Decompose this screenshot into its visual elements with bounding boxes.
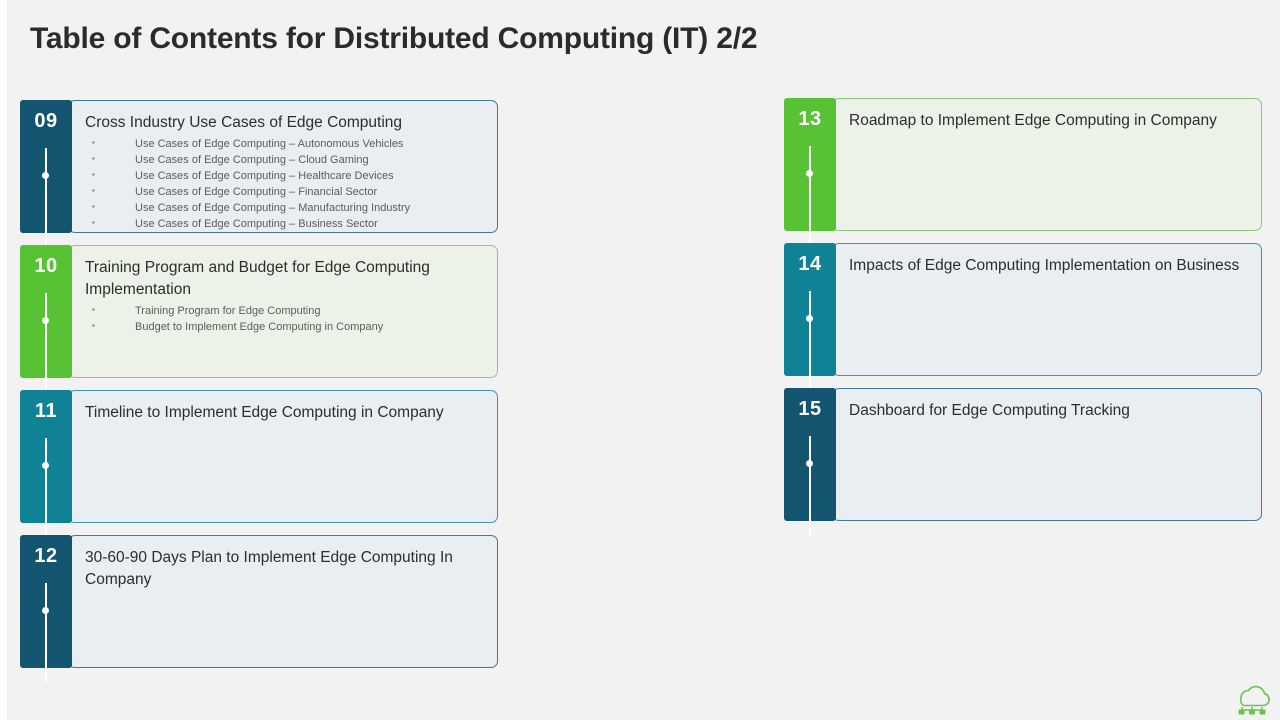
timeline-node-dot (42, 462, 49, 469)
toc-card-body: Cross Industry Use Cases of Edge Computi… (68, 100, 498, 233)
toc-card-number: 10 (20, 255, 72, 278)
toc-card-bullet-list: Training Program for Edge ComputingBudge… (85, 304, 483, 336)
toc-card-title: Dashboard for Edge Computing Tracking (849, 400, 1247, 422)
timeline-connector-line (45, 438, 47, 537)
toc-card-number-tab: 11 (20, 390, 72, 523)
timeline-node-dot (42, 172, 49, 179)
toc-card-body: Training Program and Budget for Edge Com… (68, 245, 498, 378)
timeline-connector-line (809, 291, 811, 390)
timeline-node-dot (806, 315, 813, 322)
cloud-computing-logo (1228, 678, 1268, 712)
toc-card-number: 09 (20, 110, 72, 133)
toc-card-bullet-item: Use Cases of Edge Computing – Business S… (85, 217, 483, 233)
toc-card-number: 15 (784, 398, 836, 421)
timeline-connector-line (45, 583, 47, 682)
toc-card-bullet-item: Use Cases of Edge Computing – Cloud Gami… (85, 153, 483, 169)
timeline-node-dot (806, 460, 813, 467)
toc-card[interactable]: 11Timeline to Implement Edge Computing i… (20, 390, 498, 523)
toc-card-title: 30-60-90 Days Plan to Implement Edge Com… (85, 547, 483, 591)
timeline-node-dot (806, 170, 813, 177)
toc-card-body: Dashboard for Edge Computing Tracking (832, 388, 1262, 521)
toc-card-bullet-list: Use Cases of Edge Computing – Autonomous… (85, 137, 483, 233)
toc-card-body: 30-60-90 Days Plan to Implement Edge Com… (68, 535, 498, 668)
page-title: Table of Contents for Distributed Comput… (30, 22, 757, 56)
timeline-connector-line (809, 146, 811, 245)
toc-card-bullet-item: Budget to Implement Edge Computing in Co… (85, 320, 483, 336)
toc-card-number-tab: 09 (20, 100, 72, 233)
toc-card-number: 14 (784, 253, 836, 276)
toc-card[interactable]: 1230-60-90 Days Plan to Implement Edge C… (20, 535, 498, 668)
toc-card-title: Timeline to Implement Edge Computing in … (85, 402, 483, 424)
timeline-connector-line (809, 436, 811, 535)
toc-card-body: Impacts of Edge Computing Implementation… (832, 243, 1262, 376)
toc-card-bullet-item: Training Program for Edge Computing (85, 304, 483, 320)
toc-card-number: 12 (20, 545, 72, 568)
timeline-node-dot (42, 317, 49, 324)
timeline-node-dot (42, 607, 49, 614)
toc-card[interactable]: 13Roadmap to Implement Edge Computing in… (784, 98, 1262, 231)
toc-card-number-tab: 12 (20, 535, 72, 668)
toc-card-number-tab: 10 (20, 245, 72, 378)
toc-card-bullet-item: Use Cases of Edge Computing – Financial … (85, 185, 483, 201)
timeline-connector-line (45, 293, 47, 392)
timeline-connector-line (45, 148, 47, 247)
toc-column-right: 13Roadmap to Implement Edge Computing in… (784, 98, 1264, 533)
toc-column-left: 09Cross Industry Use Cases of Edge Compu… (20, 100, 500, 680)
toc-card[interactable]: 15Dashboard for Edge Computing Tracking (784, 388, 1262, 521)
toc-card-number-tab: 15 (784, 388, 836, 521)
toc-card-body: Roadmap to Implement Edge Computing in C… (832, 98, 1262, 231)
toc-card-title: Cross Industry Use Cases of Edge Computi… (85, 112, 483, 134)
toc-card[interactable]: 14Impacts of Edge Computing Implementati… (784, 243, 1262, 376)
left-edge-accent (0, 0, 7, 720)
toc-card-number-tab: 14 (784, 243, 836, 376)
toc-card-number-tab: 13 (784, 98, 836, 231)
toc-card[interactable]: 09Cross Industry Use Cases of Edge Compu… (20, 100, 498, 233)
toc-card-body: Timeline to Implement Edge Computing in … (68, 390, 498, 523)
toc-card[interactable]: 10Training Program and Budget for Edge C… (20, 245, 498, 378)
toc-card-bullet-item: Use Cases of Edge Computing – Autonomous… (85, 137, 483, 153)
toc-card-title: Roadmap to Implement Edge Computing in C… (849, 110, 1247, 132)
toc-card-title: Training Program and Budget for Edge Com… (85, 257, 483, 301)
toc-card-bullet-item: Use Cases of Edge Computing – Manufactur… (85, 201, 483, 217)
toc-card-title: Impacts of Edge Computing Implementation… (849, 255, 1247, 277)
toc-card-bullet-item: Use Cases of Edge Computing – Healthcare… (85, 169, 483, 185)
toc-card-number: 13 (784, 108, 836, 131)
toc-card-number: 11 (20, 400, 72, 423)
